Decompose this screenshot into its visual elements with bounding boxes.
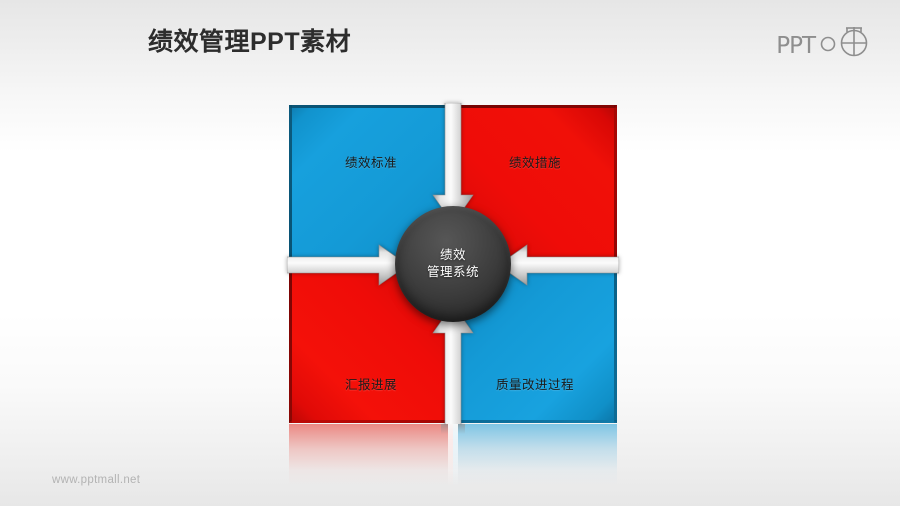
quadrant-bottom-right-label: 质量改进过程 <box>453 374 617 393</box>
quadrant-top-right-label: 绩效措施 <box>453 152 617 171</box>
arrow-right-icon <box>287 244 411 286</box>
page-title: 绩效管理PPT素材 <box>148 22 351 58</box>
center-node-line-1: 绩效 <box>440 247 466 264</box>
crosshair-circle-icon <box>818 23 876 62</box>
center-node[interactable]: 绩效 管理系统 <box>395 206 511 322</box>
reflection-left <box>289 424 453 486</box>
brand-logo: PPT <box>776 20 876 62</box>
diagram-reflection <box>289 424 617 486</box>
performance-management-diagram: 绩效标准 绩效措施 汇报进展 质量改进过程 <box>289 105 617 423</box>
quadrant-top-left-label: 绩效标准 <box>289 152 453 171</box>
arrow-left-icon <box>495 244 619 286</box>
brand-logo-text: PPT <box>776 35 815 58</box>
quadrant-bottom-left-label: 汇报进展 <box>289 374 453 393</box>
footer-url: www.pptmall.net <box>52 474 140 486</box>
slide-canvas: 绩效管理PPT素材 PPT 绩效标准 绩效措施 汇报进展 <box>0 0 900 506</box>
reflection-right <box>453 424 617 486</box>
center-node-line-2: 管理系统 <box>427 264 479 281</box>
reflection-gap <box>448 424 458 486</box>
